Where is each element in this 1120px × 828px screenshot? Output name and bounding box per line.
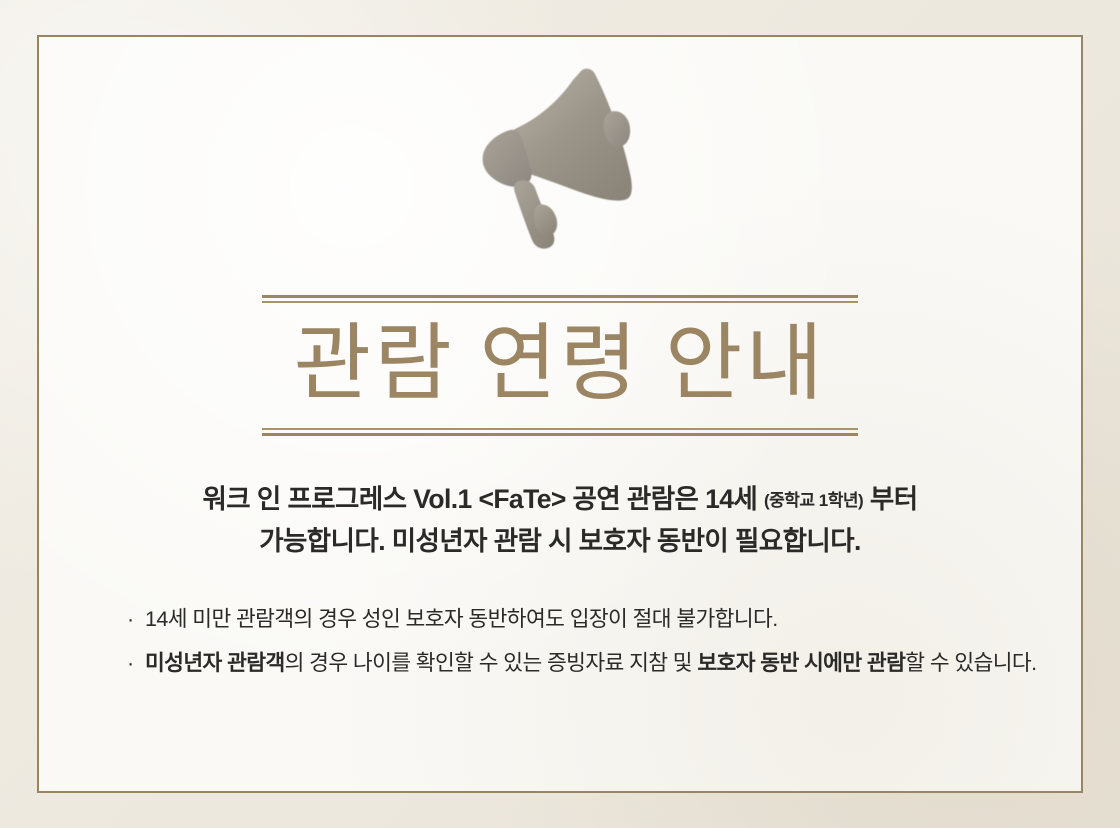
notes-list: · 14세 미만 관람객의 경우 성인 보호자 동반하여도 입장이 절대 불가합…	[127, 602, 1057, 690]
lead-line-1-before: 워크 인 프로그레스 Vol.1 <FaTe> 공연 관람은 14세	[203, 484, 765, 514]
note-regular: 의 경우 나이를 확인할 수 있는 증빙자료 지참 및	[285, 651, 698, 675]
poster-frame: 관람 연령 안내 워크 인 프로그레스 Vol.1 <FaTe> 공연 관람은 …	[37, 35, 1083, 793]
megaphone-icon	[452, 65, 668, 251]
notice-poster: 관람 연령 안내 워크 인 프로그레스 Vol.1 <FaTe> 공연 관람은 …	[0, 0, 1120, 828]
page-title: 관람 연령 안내	[262, 304, 858, 428]
note-text: 14세 미만 관람객의 경우 성인 보호자 동반하여도 입장이 절대 불가합니다…	[145, 602, 1057, 636]
lead-line-1-annotation: (중학교 1학년)	[764, 491, 863, 510]
bullet-marker-icon: ·	[127, 602, 145, 636]
lead-line-1-after: 부터	[863, 484, 917, 514]
title-rule-top	[262, 295, 858, 304]
list-item: · 14세 미만 관람객의 경우 성인 보호자 동반하여도 입장이 절대 불가합…	[127, 602, 1057, 636]
megaphone-icon-container	[39, 65, 1081, 251]
lead-statement: 워크 인 프로그레스 Vol.1 <FaTe> 공연 관람은 14세 (중학교 …	[110, 479, 1010, 562]
list-item: · 미성년자 관람객의 경우 나이를 확인할 수 있는 증빙자료 지참 및 보호…	[127, 646, 1057, 680]
bullet-marker-icon: ·	[127, 646, 145, 680]
note-emphasis: 미성년자 관람객	[145, 651, 285, 675]
lead-line-2: 가능합니다. 미성년자 관람 시 보호자 동반이 필요합니다.	[110, 521, 1010, 562]
note-regular: 할 수 있습니다.	[905, 651, 1036, 675]
title-block: 관람 연령 안내	[262, 295, 858, 437]
poster-frame-inner: 관람 연령 안내 워크 인 프로그레스 Vol.1 <FaTe> 공연 관람은 …	[39, 37, 1081, 791]
note-emphasis: 보호자 동반 시에만	[697, 651, 861, 675]
lead-line-1: 워크 인 프로그레스 Vol.1 <FaTe> 공연 관람은 14세 (중학교 …	[110, 479, 1010, 521]
title-rule-bottom	[262, 428, 858, 437]
note-emphasis: 관람	[867, 651, 905, 675]
note-text: 미성년자 관람객의 경우 나이를 확인할 수 있는 증빙자료 지참 및 보호자 …	[145, 646, 1057, 680]
